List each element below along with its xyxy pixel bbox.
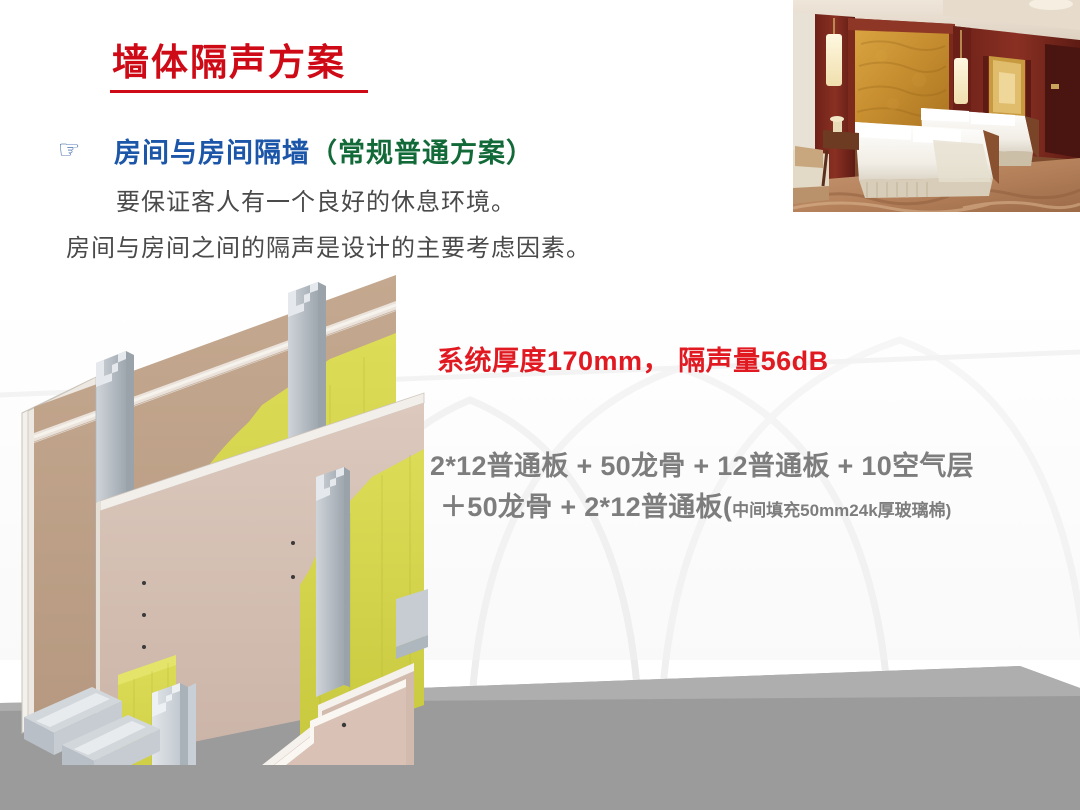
page-title: 墙体隔声方案 xyxy=(112,42,346,83)
steel-stud-front-middle xyxy=(316,467,350,697)
steel-stud-front-left xyxy=(152,683,196,765)
wall-assembly-diagram xyxy=(0,255,440,765)
pointing-hand-icon: ☞ xyxy=(58,138,114,163)
composition-line-2-main: ＋50龙骨 + 2*12普通板( xyxy=(440,492,732,522)
bottom-track-front-right xyxy=(396,589,428,659)
composition-line-1: 2*12普通板 + 50龙骨 + 12普通板 + 10空气层 xyxy=(430,446,1070,487)
slide-canvas: 墙体隔声方案 ☞ 房间与房间隔墙 （常规普通方案） 要保证客人有一个良好的休息环… xyxy=(0,0,1080,810)
body-text-line-2: 房间与房间之间的隔声是设计的主要考虑因素。 xyxy=(66,228,591,263)
composition-description: 2*12普通板 + 50龙骨 + 12普通板 + 10空气层 ＋50龙骨 + 2… xyxy=(430,446,1070,528)
bullet-heading-main: 房间与房间隔墙 xyxy=(114,131,310,170)
bullet-heading-parenthetical: （常规普通方案） xyxy=(310,131,534,170)
spec-highlight-text: 系统厚度170mm， 隔声量56dB xyxy=(437,339,829,378)
body-text-line-1: 要保证客人有一个良好的休息环境。 xyxy=(116,182,516,217)
title-underline xyxy=(110,90,368,93)
composition-line-2-note: 中间填充50mm24k厚玻璃棉) xyxy=(732,501,951,520)
hotel-room-photo xyxy=(793,0,1080,212)
bullet-heading-row: ☞ 房间与房间隔墙 （常规普通方案） xyxy=(58,131,534,170)
composition-line-2: ＋50龙骨 + 2*12普通板(中间填充50mm24k厚玻璃棉) xyxy=(430,487,1070,528)
